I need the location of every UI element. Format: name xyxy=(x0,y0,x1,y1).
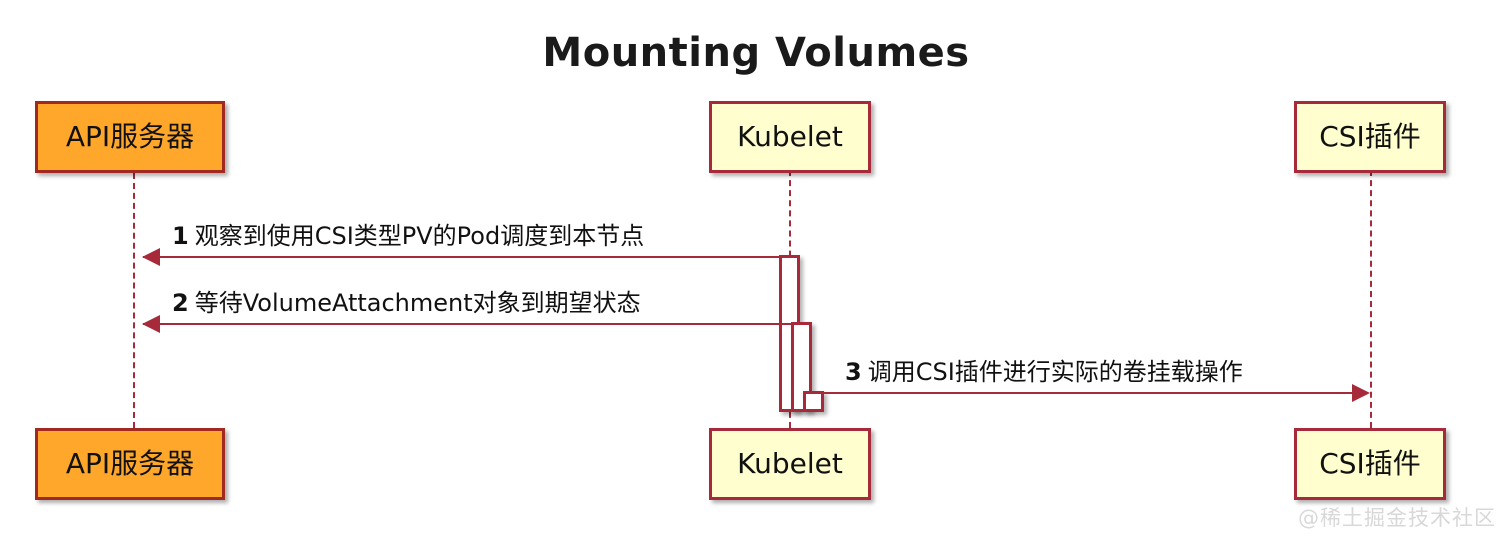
message-text-3: 调用CSI插件进行实际的卷挂载操作 xyxy=(868,358,1243,386)
participant-kubelet-top[interactable]: Kubelet xyxy=(709,101,871,173)
participant-label: Kubelet xyxy=(737,123,843,151)
arrowhead-left-icon-2 xyxy=(142,315,160,333)
activation-kubelet-level-3 xyxy=(803,391,824,412)
page-title: Mounting Volumes xyxy=(0,30,1512,76)
message-number-3: 3 xyxy=(845,358,862,386)
participant-label: CSI插件 xyxy=(1319,123,1421,151)
message-line-1 xyxy=(143,256,789,258)
participant-csi-plugin-top[interactable]: CSI插件 xyxy=(1294,101,1446,173)
message-label-3: 3调用CSI插件进行实际的卷挂载操作 xyxy=(845,360,1243,384)
message-text-1: 观察到使用CSI类型PV的Pod调度到本节点 xyxy=(195,222,645,250)
lifeline-csi-plugin xyxy=(1370,170,1372,428)
participant-api-server-top[interactable]: API服务器 xyxy=(35,101,225,173)
message-line-2 xyxy=(143,323,801,325)
participant-api-server-bottom[interactable]: API服务器 xyxy=(35,428,225,500)
watermark: @稀土掘金技术社区 xyxy=(1298,502,1496,532)
message-number-2: 2 xyxy=(172,289,189,317)
arrowhead-left-icon-1 xyxy=(142,248,160,266)
participant-csi-plugin-bottom[interactable]: CSI插件 xyxy=(1294,428,1446,500)
message-number-1: 1 xyxy=(172,222,189,250)
participant-label: Kubelet xyxy=(737,450,843,478)
lifeline-api-server xyxy=(133,173,135,428)
participant-kubelet-bottom[interactable]: Kubelet xyxy=(709,428,871,500)
message-line-3 xyxy=(824,392,1363,394)
message-text-2: 等待VolumeAttachment对象到期望状态 xyxy=(195,289,641,317)
participant-label: API服务器 xyxy=(66,450,194,478)
participant-label: API服务器 xyxy=(66,123,194,151)
message-label-1: 1观察到使用CSI类型PV的Pod调度到本节点 xyxy=(172,224,644,248)
participant-label: CSI插件 xyxy=(1319,450,1421,478)
message-label-2: 2等待VolumeAttachment对象到期望状态 xyxy=(172,291,641,315)
sequence-diagram: Mounting Volumes API服务器 Kubelet CSI插件 1观… xyxy=(0,0,1512,538)
arrowhead-right-icon-3 xyxy=(1352,384,1370,402)
